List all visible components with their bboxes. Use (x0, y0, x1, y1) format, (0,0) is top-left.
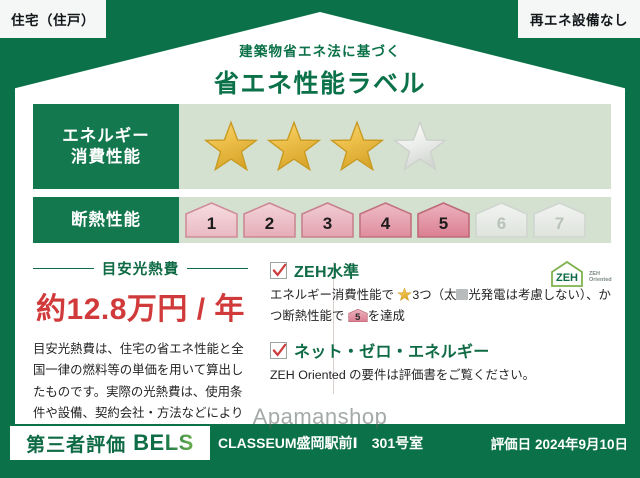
zeh-panel: ZEH水準 エネルギー消費性能で 3つ（太光発電は考慮しない）、かつ断熱性能で … (248, 258, 611, 400)
rule-left (33, 268, 94, 270)
zeh-netzero-title: ネット・ゼロ・エネルギー (294, 338, 490, 362)
zeh-standard-body-star-text: 3つ（太 (412, 288, 456, 302)
insulation-performance-value: 1 2 3 (179, 197, 611, 243)
renewable-equipment-tag: 再エネ設備なし (518, 0, 640, 38)
zeh-netzero-title-row: ネット・ゼロ・エネルギー ZEH ZEH Oriented (270, 338, 611, 362)
zeh-standard-checkbox[interactable] (270, 262, 287, 279)
redacted-character (456, 289, 468, 300)
bels-prefix-label: 第三者評価 (26, 430, 126, 457)
insulation-grade-7: 7 (532, 201, 587, 239)
rule-right (187, 268, 248, 270)
performance-section: エネルギー 消費性能 (33, 104, 611, 243)
insulation-performance-label: 断熱性能 (33, 197, 179, 243)
zeh-standard-body: エネルギー消費性能で 3つ（太光発電は考慮しない）、かつ断熱性能で 5 を達成 (270, 285, 611, 327)
star-icon-inline (397, 287, 412, 302)
insulation-grade-1: 1 (184, 201, 239, 239)
page-title: 省エネ性能ラベル (0, 64, 640, 100)
bels-logo-text: BELS (133, 430, 194, 456)
insulation-grade-2: 2 (242, 201, 297, 239)
star-icon-empty (392, 119, 448, 175)
star-icon (203, 119, 259, 175)
svg-text:ZEH: ZEH (556, 272, 578, 284)
bottom-bar: 第三者評価 BELS CLASSEUM盛岡駅前Ⅰ 301号室 評価日 2024年… (0, 424, 640, 478)
insulation-grade-5: 5 (416, 201, 471, 239)
lower-details-section: 目安光熱費 約12.8万円 / 年 目安光熱費は、住宅の省エネ性能と全国一律の燃… (33, 258, 611, 400)
check-icon (272, 263, 287, 278)
utility-cost-heading-text: 目安光熱費 (102, 258, 180, 279)
house-grade-icon-inline: 5 (348, 308, 368, 323)
insulation-performance-row: 断熱性能 (33, 197, 611, 243)
energy-performance-label: 住宅（住戸） 再エネ設備なし 建築物省エネ法に基づく 省エネ性能ラベル エネルギ… (0, 0, 640, 478)
zeh-netzero-block: ネット・ゼロ・エネルギー ZEH ZEH Oriented ZEH Orient… (270, 338, 611, 386)
zeh-netzero-body: ZEH Oriented の要件は評価書をご覧ください。 (270, 365, 611, 386)
header-subtitle: 建築物省エネ法に基づく (0, 40, 640, 60)
zeh-standard-body-part3: を達成 (368, 309, 405, 323)
insulation-grade-scale: 1 2 3 (179, 201, 587, 239)
insulation-grade-4: 4 (358, 201, 413, 239)
star-rating (179, 119, 448, 175)
check-icon (272, 343, 287, 358)
star-icon (329, 119, 385, 175)
energy-performance-row: エネルギー 消費性能 (33, 104, 611, 189)
energy-performance-value (179, 104, 611, 189)
building-type-tag: 住宅（住戸） (0, 0, 106, 38)
svg-text:Oriented: Oriented (589, 277, 612, 283)
utility-cost-panel: 目安光熱費 約12.8万円 / 年 目安光熱費は、住宅の省エネ性能と全国一律の燃… (33, 258, 248, 400)
energy-performance-label: エネルギー 消費性能 (33, 104, 179, 189)
property-room-label: CLASSEUM盛岡駅前Ⅰ 301号室 (218, 433, 423, 453)
zeh-netzero-checkbox[interactable] (270, 342, 287, 359)
utility-cost-amount: 約12.8万円 / 年 (33, 284, 248, 328)
zeh-standard-title: ZEH水準 (294, 258, 360, 282)
zeh-standard-body-part1: エネルギー消費性能で (270, 288, 394, 302)
insulation-grade-3: 3 (300, 201, 355, 239)
insulation-grade-6: 6 (474, 201, 529, 239)
label-header: 建築物省エネ法に基づく 省エネ性能ラベル (0, 40, 640, 100)
utility-cost-heading: 目安光熱費 (33, 258, 248, 279)
house-grade-inline-value: 5 (348, 310, 368, 326)
bels-certification-chip: 第三者評価 BELS (10, 426, 210, 460)
evaluation-date-label: 評価日 2024年9月10日 (491, 433, 628, 453)
star-icon (266, 119, 322, 175)
zeh-oriented-logo: ZEH ZEH Oriented (549, 259, 615, 289)
